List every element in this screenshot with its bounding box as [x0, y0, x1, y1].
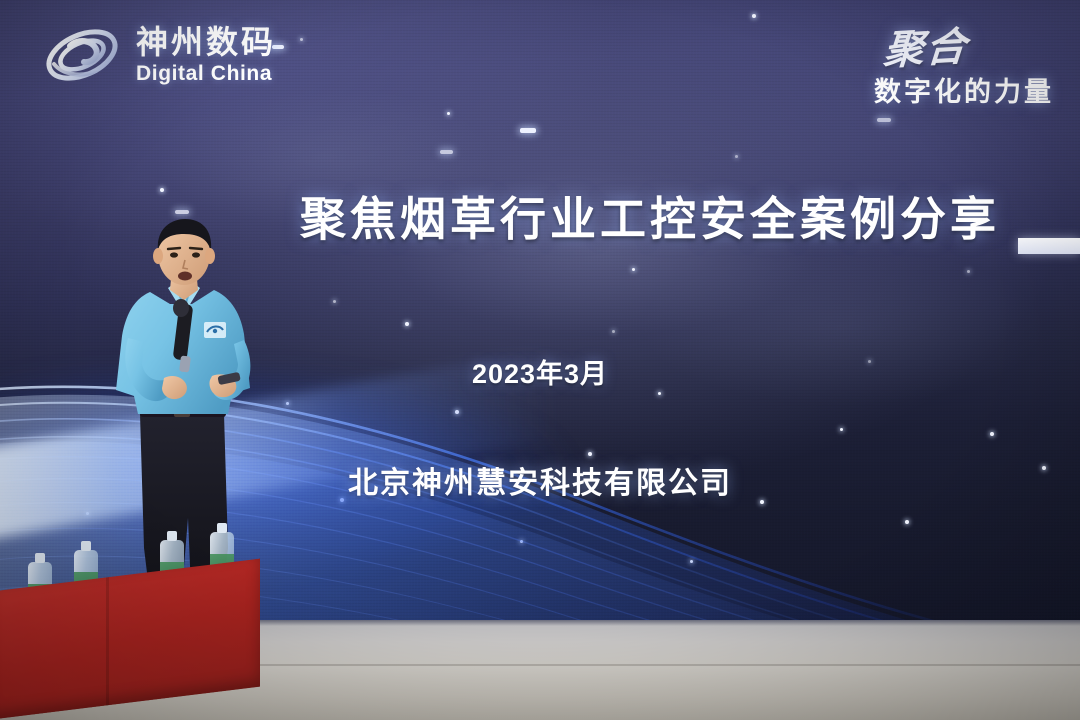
brand-logo: 神州数码 Digital China: [40, 18, 276, 92]
shirt-chest-logo: [204, 322, 226, 338]
slogan-brush-text: 聚合: [882, 14, 971, 76]
slide-title: 聚焦烟草行业工控安全案例分享: [300, 183, 1014, 249]
conference-photo: 神州数码 Digital China 聚合 数字化的力量 聚焦烟草行业工控安全案…: [0, 0, 1080, 720]
screen-edge-marker: [1018, 238, 1080, 254]
brand-name-cn: 神州数码: [136, 26, 276, 58]
slogan-sub-text: 数字化的力量: [874, 70, 1054, 109]
event-slogan: 聚合 数字化的力量: [874, 16, 1054, 109]
galaxy-swirl-icon: [40, 18, 124, 92]
table-cloth-fold: [106, 577, 109, 705]
brand-name-en: Digital China: [136, 63, 276, 84]
